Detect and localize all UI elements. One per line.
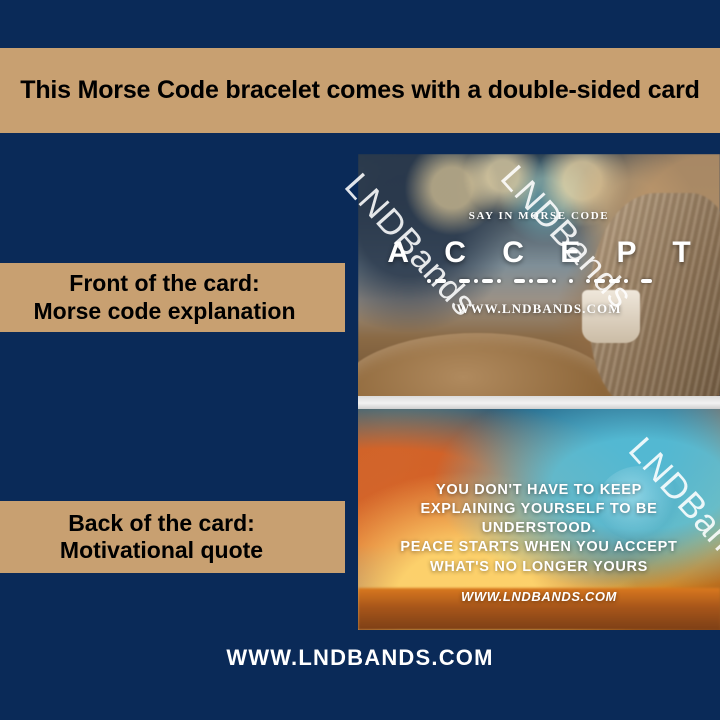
quote-line-3: UNDERSTOOD. — [358, 519, 720, 538]
quote-line-2: EXPLAINING YOURSELF TO BE — [358, 500, 720, 519]
front-card-copy: SAY IN MORSE CODE A C C E P T WWW.LNDBAN… — [358, 210, 720, 317]
product-image-front-card: SAY IN MORSE CODE A C C E P T WWW.LNDBAN… — [358, 154, 720, 396]
caption-back-line2: Motivational quote — [0, 537, 345, 564]
morse-dot — [624, 279, 628, 283]
morse-dot — [427, 279, 431, 283]
caption-box-front-of-card: Front of the card: Morse code explanatio… — [0, 263, 345, 332]
morse-word-accept: A C C E P T — [358, 236, 720, 270]
morse-dash — [537, 279, 548, 283]
morse-letter-c — [514, 279, 556, 283]
morse-dot — [552, 279, 556, 283]
morse-dot — [497, 279, 501, 283]
front-card-url: WWW.LNDBANDS.COM — [358, 301, 720, 317]
morse-letter-t — [641, 279, 652, 283]
cafe-table-shape — [358, 333, 619, 396]
morse-letter-c — [459, 279, 501, 283]
morse-code-pattern — [358, 279, 720, 283]
quote-line-5: WHAT'S NO LONGER YOURS — [358, 558, 720, 577]
quote-line-4: PEACE STARTS WHEN YOU ACCEPT — [358, 538, 720, 557]
say-in-morse-code-label: SAY IN MORSE CODE — [358, 210, 720, 222]
morse-dot — [474, 279, 478, 283]
morse-letter-p — [586, 279, 628, 283]
back-card-url: WWW.LNDBANDS.COM — [358, 588, 720, 605]
morse-dash — [609, 279, 620, 283]
morse-dash — [594, 279, 605, 283]
morse-dash — [459, 279, 470, 283]
caption-front-line1: Front of the card: — [0, 270, 345, 297]
morse-letter-a — [427, 279, 446, 283]
top-banner-text: This Morse Code bracelet comes with a do… — [2, 75, 717, 106]
card-images-divider — [358, 396, 720, 409]
quote-line-1: YOU DON'T HAVE TO KEEP — [358, 481, 720, 500]
back-card-copy: YOU DON'T HAVE TO KEEP EXPLAINING YOURSE… — [358, 481, 720, 605]
footer-url: WWW.LNDBANDS.COM — [0, 645, 720, 671]
caption-back-line1: Back of the card: — [0, 510, 345, 537]
morse-dash — [641, 279, 652, 283]
morse-dash — [435, 279, 446, 283]
morse-dash — [514, 279, 525, 283]
caption-box-back-of-card: Back of the card: Motivational quote — [0, 501, 345, 573]
morse-dot — [569, 279, 573, 283]
product-image-back-card: YOU DON'T HAVE TO KEEP EXPLAINING YOURSE… — [358, 409, 720, 630]
caption-front-line2: Morse code explanation — [0, 298, 345, 325]
morse-dash — [482, 279, 493, 283]
morse-letter-e — [569, 279, 573, 283]
morse-dot — [586, 279, 590, 283]
morse-dot — [529, 279, 533, 283]
top-banner: This Morse Code bracelet comes with a do… — [0, 48, 720, 133]
